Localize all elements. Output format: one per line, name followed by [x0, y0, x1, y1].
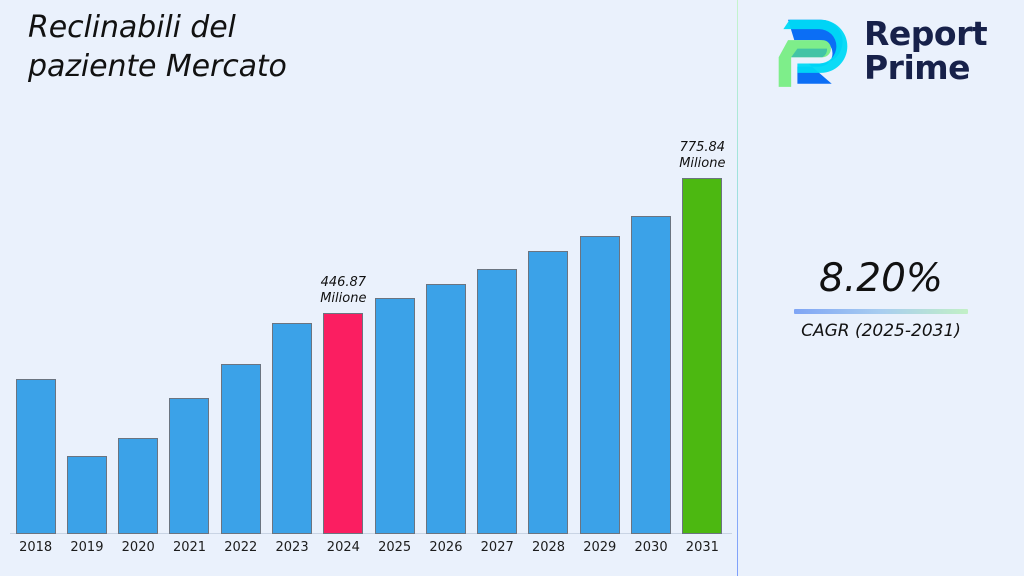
bar-group[interactable] [625, 120, 676, 534]
bar-series: 446.87 Milione775.84 Milione [10, 120, 728, 534]
bar-2023[interactable] [272, 323, 312, 534]
cagr-value: 8.20% [738, 255, 1024, 303]
bar-2022[interactable] [221, 364, 261, 534]
bar-group[interactable] [266, 120, 317, 534]
bar-group[interactable] [61, 120, 112, 534]
bar-group[interactable]: 446.87 Milione [318, 120, 369, 534]
branding-panel: Report Prime 8.20% CAGR (2025-2031) [738, 0, 1024, 576]
bar-group[interactable]: 775.84 Milione [677, 120, 728, 534]
x-tick-2024: 2024 [318, 540, 369, 555]
cagr-caption: CAGR (2025-2031) [738, 320, 1024, 342]
bar-group[interactable] [215, 120, 266, 534]
report-prime-logo: Report Prime [774, 12, 987, 90]
bar-group[interactable] [369, 120, 420, 534]
bar-2030[interactable] [631, 216, 671, 534]
bar-2021[interactable] [169, 398, 209, 534]
report-prime-logo-icon [774, 12, 852, 90]
infographic-root: Reclinabili del paziente Mercato 446.87 … [0, 0, 1024, 576]
x-tick-2027: 2027 [472, 540, 523, 555]
logo-wordmark-line2: Prime [864, 51, 987, 85]
bar-group[interactable] [574, 120, 625, 534]
logo-wordmark: Report Prime [864, 17, 987, 85]
bar-2018[interactable] [16, 379, 56, 534]
x-tick-2020: 2020 [113, 540, 164, 555]
x-tick-2029: 2029 [574, 540, 625, 555]
cagr-block: 8.20% CAGR (2025-2031) [738, 255, 1024, 342]
x-tick-2030: 2030 [625, 540, 676, 555]
bar-group[interactable] [113, 120, 164, 534]
bar-2024[interactable] [323, 313, 363, 534]
cagr-divider-rule [794, 309, 968, 314]
bar-chart: 446.87 Milione775.84 Milione 20182019202… [0, 0, 738, 576]
bar-group[interactable] [472, 120, 523, 534]
x-tick-2026: 2026 [420, 540, 471, 555]
bar-group[interactable] [420, 120, 471, 534]
bar-2020[interactable] [118, 438, 158, 534]
bar-2027[interactable] [477, 269, 517, 534]
bar-group[interactable] [523, 120, 574, 534]
logo-wordmark-line1: Report [864, 17, 987, 51]
x-tick-2031: 2031 [677, 540, 728, 555]
x-tick-2022: 2022 [215, 540, 266, 555]
bar-2019[interactable] [67, 456, 107, 534]
x-tick-2021: 2021 [164, 540, 215, 555]
bar-group[interactable] [10, 120, 61, 534]
x-tick-2023: 2023 [266, 540, 317, 555]
x-tick-2025: 2025 [369, 540, 420, 555]
x-tick-2028: 2028 [523, 540, 574, 555]
bar-group[interactable] [164, 120, 215, 534]
x-tick-2019: 2019 [61, 540, 112, 555]
chart-panel: Reclinabili del paziente Mercato 446.87 … [0, 0, 738, 576]
bar-2031[interactable] [682, 178, 722, 534]
bar-2026[interactable] [426, 284, 466, 534]
bar-2029[interactable] [580, 236, 620, 534]
x-tick-2018: 2018 [10, 540, 61, 555]
x-axis-tick-labels: 2018201920202021202220232024202520262027… [10, 540, 728, 568]
bar-2028[interactable] [528, 251, 568, 534]
bar-2025[interactable] [375, 298, 415, 534]
